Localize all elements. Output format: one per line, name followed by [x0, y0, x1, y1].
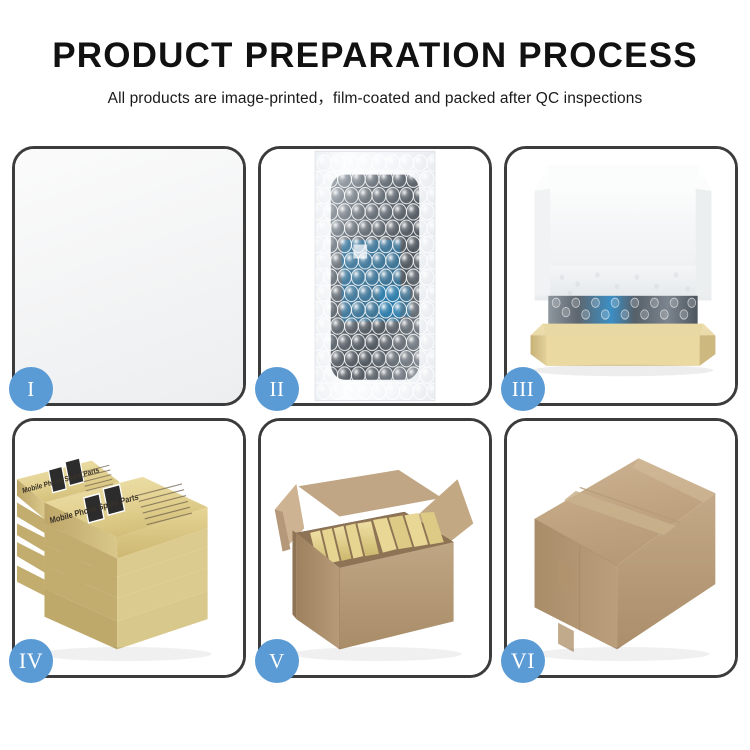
process-step-grid: I	[12, 146, 738, 678]
open-carton-illustration	[261, 421, 489, 675]
process-step-panel-2[interactable]: II	[258, 146, 492, 406]
step-badge-6: VI	[501, 639, 545, 683]
inner-box-packing-photo	[507, 149, 735, 403]
step-badge-2: II	[255, 367, 299, 411]
process-step-panel-6[interactable]: VI	[504, 418, 738, 678]
page-header: PRODUCT PREPARATION PROCESS All products…	[0, 0, 750, 108]
process-step-panel-5[interactable]: V	[258, 418, 492, 678]
sealed-carton-illustration	[507, 421, 735, 675]
spare-parts-assortment-photo	[15, 149, 243, 403]
step-badge-5: V	[255, 639, 299, 683]
panel-4-image-clip: Mobile Phone Spare Parts	[15, 421, 243, 675]
process-step-panel-3[interactable]: III	[504, 146, 738, 406]
panel-3-image-clip	[507, 149, 735, 403]
step-badge-1: I	[9, 367, 53, 411]
step-badge-3: III	[501, 367, 545, 411]
step-badge-4: IV	[9, 639, 53, 683]
process-step-panel-1[interactable]: I	[12, 146, 246, 406]
bubble-bag-illustration	[261, 149, 489, 403]
stacked-retail-boxes-photo: Mobile Phone Spare Parts	[15, 421, 243, 675]
panel-1-image-clip	[15, 149, 243, 403]
open-shipping-carton-photo	[261, 421, 489, 675]
panel-2-image-clip	[261, 149, 489, 403]
box-stack-illustration: Mobile Phone Spare Parts	[15, 421, 243, 675]
panel-6-image-clip	[507, 421, 735, 675]
process-step-panel-4[interactable]: Mobile Phone Spare Parts	[12, 418, 246, 678]
sealed-shipping-carton-photo	[507, 421, 735, 675]
panel-5-image-clip	[261, 421, 489, 675]
bubble-wrapped-screen-photo	[261, 149, 489, 403]
page-subtitle: All products are image-printed，film-coat…	[0, 76, 750, 108]
open-inner-box-illustration	[507, 149, 735, 403]
page-title: PRODUCT PREPARATION PROCESS	[0, 0, 750, 76]
